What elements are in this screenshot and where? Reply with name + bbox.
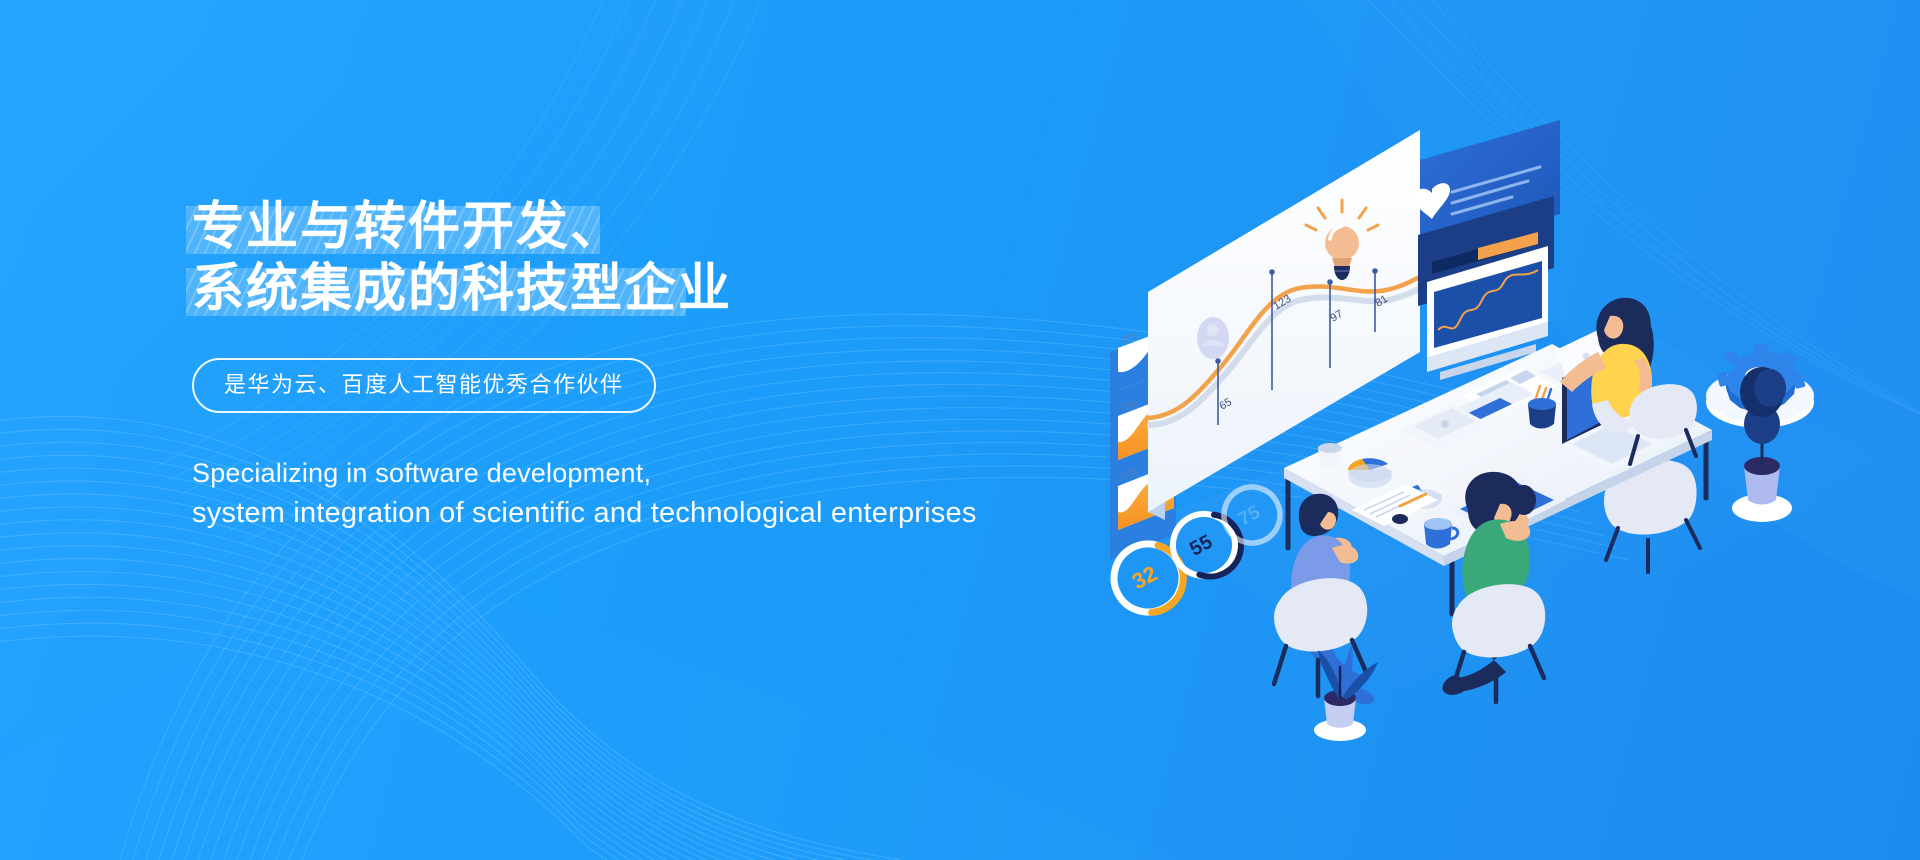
headline-line-1: 专业与转件开发、 [192,196,952,258]
coffee-mug [1318,443,1342,468]
hero-copy: 专业与转件开发、 系统集成的科技型企业 是华为云、百度人工智能优秀合作伙伴 Sp… [192,196,952,533]
hero-banner: 65 123 97 81 [0,0,1920,860]
page-title: 专业与转件开发、 系统集成的科技型企业 [192,196,952,320]
gauge-value: 32 [1128,561,1161,595]
partner-badge: 是华为云、百度人工智能优秀合作伙伴 [192,358,656,413]
pie-chart [1348,458,1392,488]
headline-line-2: 系统集成的科技型企业 [192,258,952,320]
subtitle-line-2: system integration of scientific and tec… [192,493,952,533]
subtitle-line-1: Specializing in software development, [192,453,952,493]
subtitle: Specializing in software development, sy… [192,453,952,533]
